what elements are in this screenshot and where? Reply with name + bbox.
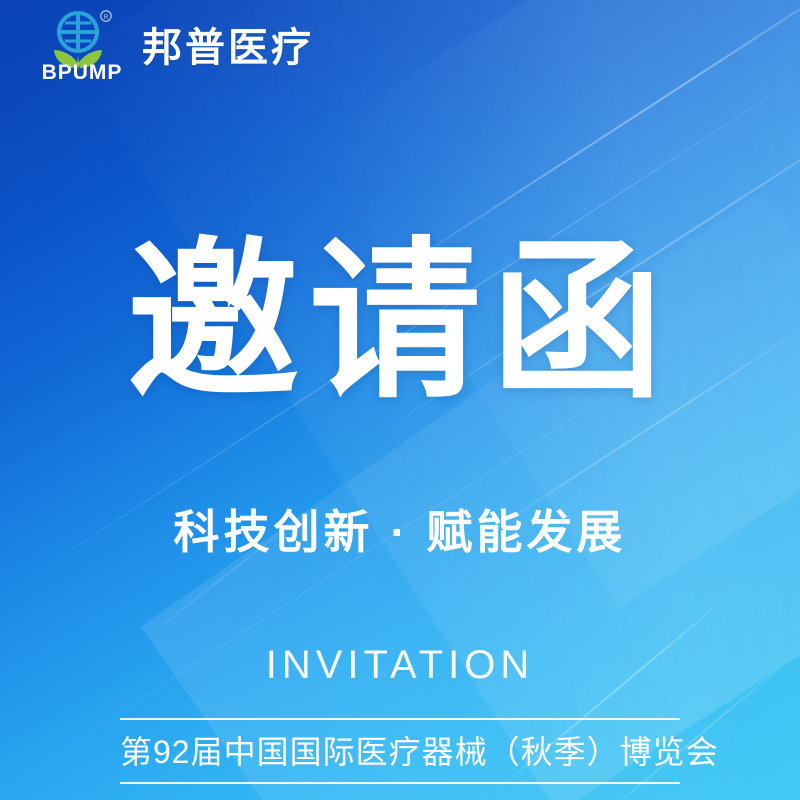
logo-wordmark: BPUMP: [40, 62, 124, 83]
invitation-poster: R 邦普医疗 BPUMP 邀请函 科技创新 · 赋能发展 INVITATION …: [0, 0, 800, 800]
event-bar: 第92届中国国际医疗器械（秋季）博览会: [120, 718, 680, 784]
company-name: 邦普医疗: [142, 28, 314, 68]
event-name: 第92届中国国际医疗器械（秋季）博览会: [120, 720, 680, 782]
invitation-english-label: INVITATION: [0, 645, 800, 685]
page-title: 邀请函: [0, 236, 800, 408]
subtitle-slogan: 科技创新 · 赋能发展: [0, 505, 800, 560]
svg-text:R: R: [104, 14, 109, 21]
divider-bottom: [120, 782, 680, 784]
